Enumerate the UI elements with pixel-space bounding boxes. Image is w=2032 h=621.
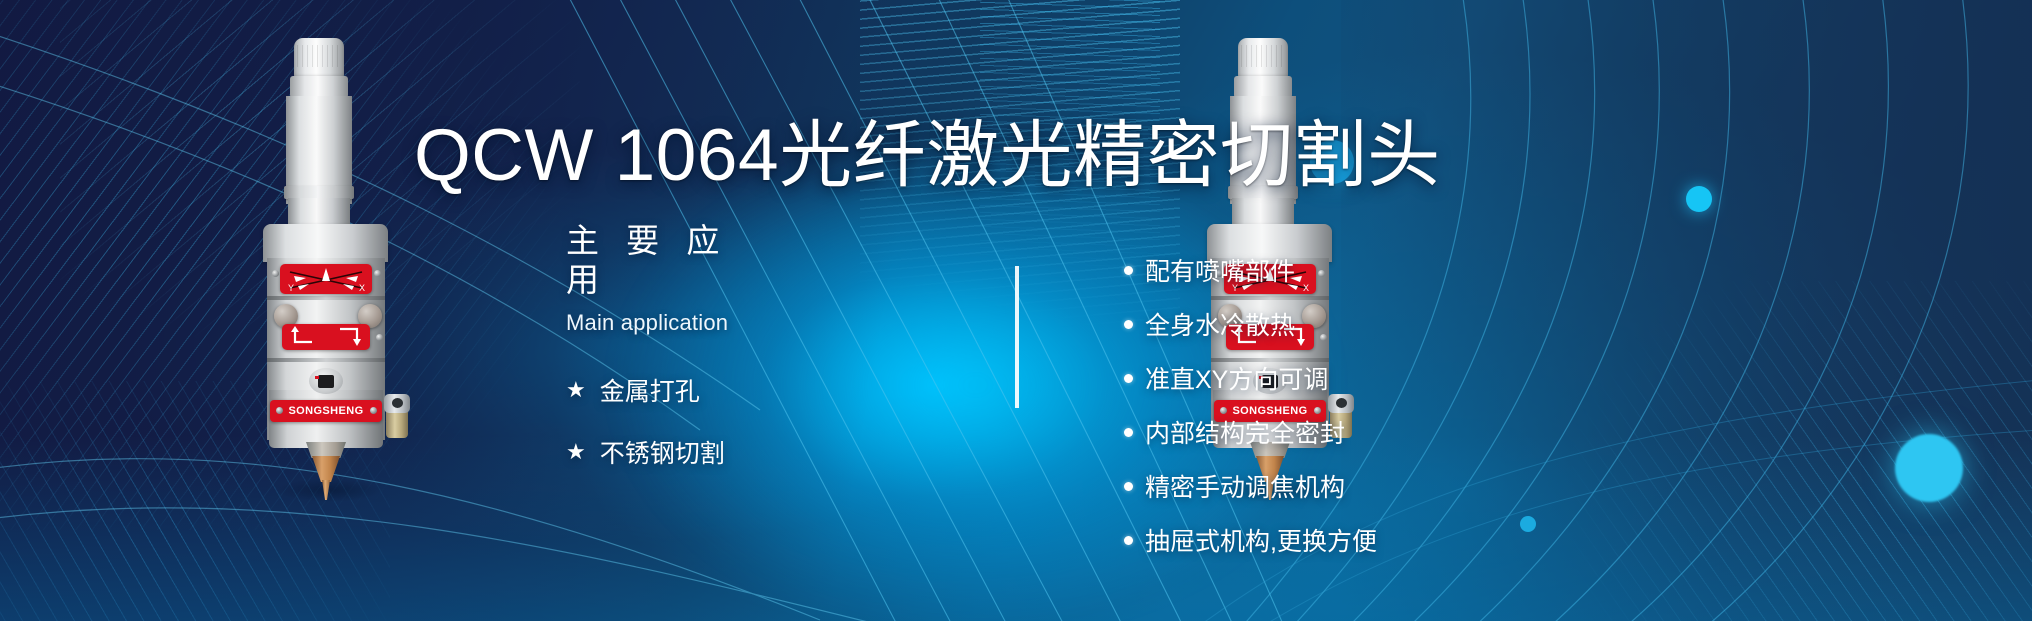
product-brand-label: SONGSHENG	[270, 400, 382, 422]
application-section: 主 要 应 用 Main application ★ 金属打孔 ★ 不锈钢切割	[566, 222, 766, 496]
decorative-dot-bottom	[1520, 516, 1536, 532]
feature-list-item: 精密手动调焦机构	[1124, 468, 1377, 504]
product-screw	[376, 334, 383, 341]
application-list: ★ 金属打孔 ★ 不锈钢切割	[566, 372, 766, 470]
product-brand-text: SONGSHENG	[288, 405, 363, 417]
product-body-seam-lower	[267, 358, 385, 362]
application-heading-en: Main application	[566, 310, 766, 336]
product-image-left: Y X SONGSHENG	[248, 38, 418, 458]
product-screw	[272, 270, 279, 277]
product-screw	[374, 270, 381, 277]
feature-list-item-label: 抽屉式机构,更换方便	[1145, 522, 1377, 558]
bullet-dot-icon	[1124, 374, 1133, 383]
product-nozzle-base	[306, 442, 346, 458]
application-list-item-label: 不锈钢切割	[600, 434, 725, 470]
svg-text:X: X	[359, 283, 365, 293]
bullet-dot-icon	[1124, 428, 1133, 437]
bullet-dot-icon	[1124, 536, 1133, 545]
xy-axis-icon: Y X	[280, 264, 372, 294]
feature-list-item-label: 精密手动调焦机构	[1145, 468, 1345, 504]
application-heading-cn: 主 要 应 用	[566, 222, 766, 300]
feature-list-item: 配有喷嘴部件	[1124, 252, 1377, 288]
promotional-banner: Y X SONGSHENG	[0, 0, 2032, 621]
product-air-fitting	[380, 394, 410, 438]
product-neck	[1234, 76, 1292, 98]
feature-list-item: 全身水冷散热	[1124, 306, 1377, 342]
bullet-dot-icon	[1124, 266, 1133, 275]
application-list-item: ★ 不锈钢切割	[566, 434, 766, 470]
product-xy-alignment-label: Y X	[280, 264, 372, 294]
product-body-seam-upper	[267, 296, 385, 300]
direction-arrows-icon	[282, 324, 370, 350]
star-icon: ★	[566, 441, 586, 463]
feature-list-item: 准直XY方向可调	[1124, 360, 1377, 396]
application-list-item: ★ 金属打孔	[566, 372, 766, 408]
product-shoulder	[263, 224, 388, 262]
svg-text:Y: Y	[288, 283, 294, 293]
product-screw	[370, 407, 377, 414]
product-screw	[276, 407, 283, 414]
bullet-dot-icon	[1124, 482, 1133, 491]
product-direction-label	[282, 324, 370, 350]
bullet-dot-icon	[1124, 320, 1133, 329]
product-sensor-port	[309, 368, 343, 394]
feature-list: 配有喷嘴部件 全身水冷散热 准直XY方向可调 内部结构完全密封 精密手动调焦机构…	[1124, 252, 1377, 576]
feature-list-item-label: 内部结构完全密封	[1145, 414, 1345, 450]
feature-list-item-label: 配有喷嘴部件	[1145, 252, 1295, 288]
decorative-dot-bottom-right	[1895, 434, 1963, 502]
vertical-divider	[1015, 266, 1019, 408]
application-list-item-label: 金属打孔	[600, 372, 700, 408]
product-neck	[290, 76, 348, 98]
decorative-dot-small	[1686, 186, 1712, 212]
banner-title: QCW 1064光纤激光精密切割头	[414, 96, 1441, 202]
feature-list-item: 抽屉式机构,更换方便	[1124, 522, 1377, 558]
product-top-cap	[1238, 38, 1288, 78]
product-top-cap	[294, 38, 344, 78]
star-icon: ★	[566, 379, 586, 401]
feature-list-item: 内部结构完全密封	[1124, 414, 1377, 450]
feature-list-item-label: 准直XY方向可调	[1145, 360, 1328, 396]
feature-list-item-label: 全身水冷散热	[1145, 306, 1295, 342]
